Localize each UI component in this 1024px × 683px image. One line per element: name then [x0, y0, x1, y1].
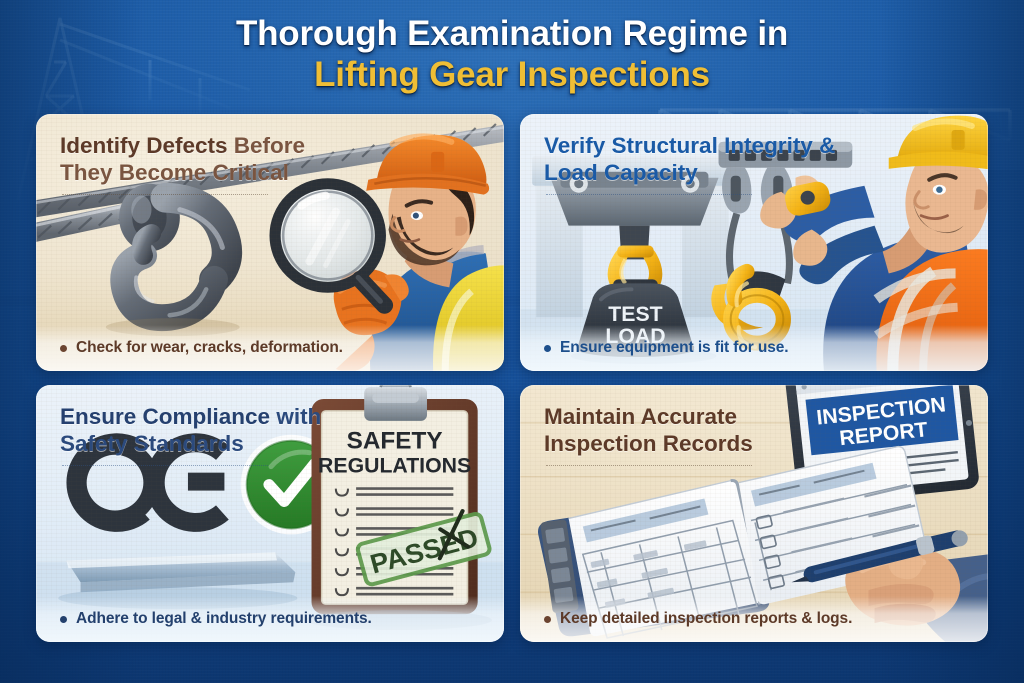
card-heading-verify-structural-integrity: Verify Structural Integrity & Load Capac… — [544, 132, 839, 187]
heading-divider — [546, 194, 752, 195]
heading-divider — [62, 465, 268, 466]
heading-lead: Identify Defects — [60, 133, 234, 158]
bullet-text: Adhere to legal & industry requirements. — [76, 610, 372, 628]
svg-text:TEST: TEST — [608, 303, 662, 326]
title-line-accent: Lifting Gear Inspections — [0, 55, 1024, 96]
card-identify-defects[interactable]: Identify Defects Before They Become Crit… — [36, 114, 504, 371]
card-bullet-verify-structural-integrity: Ensure equipment is fit for use. — [520, 325, 988, 371]
card-heading-ensure-compliance: Ensure Compliance with Safety Standards — [60, 403, 355, 458]
heading-lead: Ensure Compliance — [60, 404, 270, 429]
bullet-text: Check for wear, cracks, deformation. — [76, 339, 343, 357]
heading-divider — [62, 194, 268, 195]
bullet-text: Keep detailed inspection reports & logs. — [560, 610, 852, 628]
bullet-text: Ensure equipment is fit for use. — [560, 339, 788, 357]
card-bullet-ensure-compliance: Adhere to legal & industry requirements. — [36, 596, 504, 642]
card-bullet-maintain-records: Keep detailed inspection reports & logs. — [520, 596, 988, 642]
bullet-dot-icon — [544, 616, 551, 623]
poster-title: Thorough Examination Regime in Lifting G… — [0, 14, 1024, 95]
svg-text:SAFETY: SAFETY — [347, 428, 443, 455]
card-grid: Identify Defects Before They Become Crit… — [36, 114, 988, 642]
card-verify-structural-integrity[interactable]: TEST LOAD — [520, 114, 988, 371]
infographic-poster: Thorough Examination Regime in Lifting G… — [0, 0, 1024, 683]
bullet-dot-icon — [60, 345, 67, 352]
heading-lead: Verify Structural Integrity — [544, 133, 813, 158]
card-ensure-compliance[interactable]: SAFETY REGULATIONS — [36, 385, 504, 642]
card-heading-identify-defects: Identify Defects Before They Become Crit… — [60, 132, 355, 187]
bullet-dot-icon — [544, 345, 551, 352]
heading-divider — [546, 465, 752, 466]
svg-text:REGULATIONS: REGULATIONS — [318, 455, 471, 478]
heading-tail: Inspection Records — [544, 431, 753, 456]
heading-lead: Maintain Accurate — [544, 404, 737, 429]
card-maintain-records[interactable]: INSPECTION REPORT — [520, 385, 988, 642]
bullet-dot-icon — [60, 616, 67, 623]
card-bullet-identify-defects: Check for wear, cracks, deformation. — [36, 325, 504, 371]
card-heading-maintain-records: Maintain Accurate Inspection Records — [544, 403, 839, 458]
title-line-primary: Thorough Examination Regime in — [0, 14, 1024, 55]
